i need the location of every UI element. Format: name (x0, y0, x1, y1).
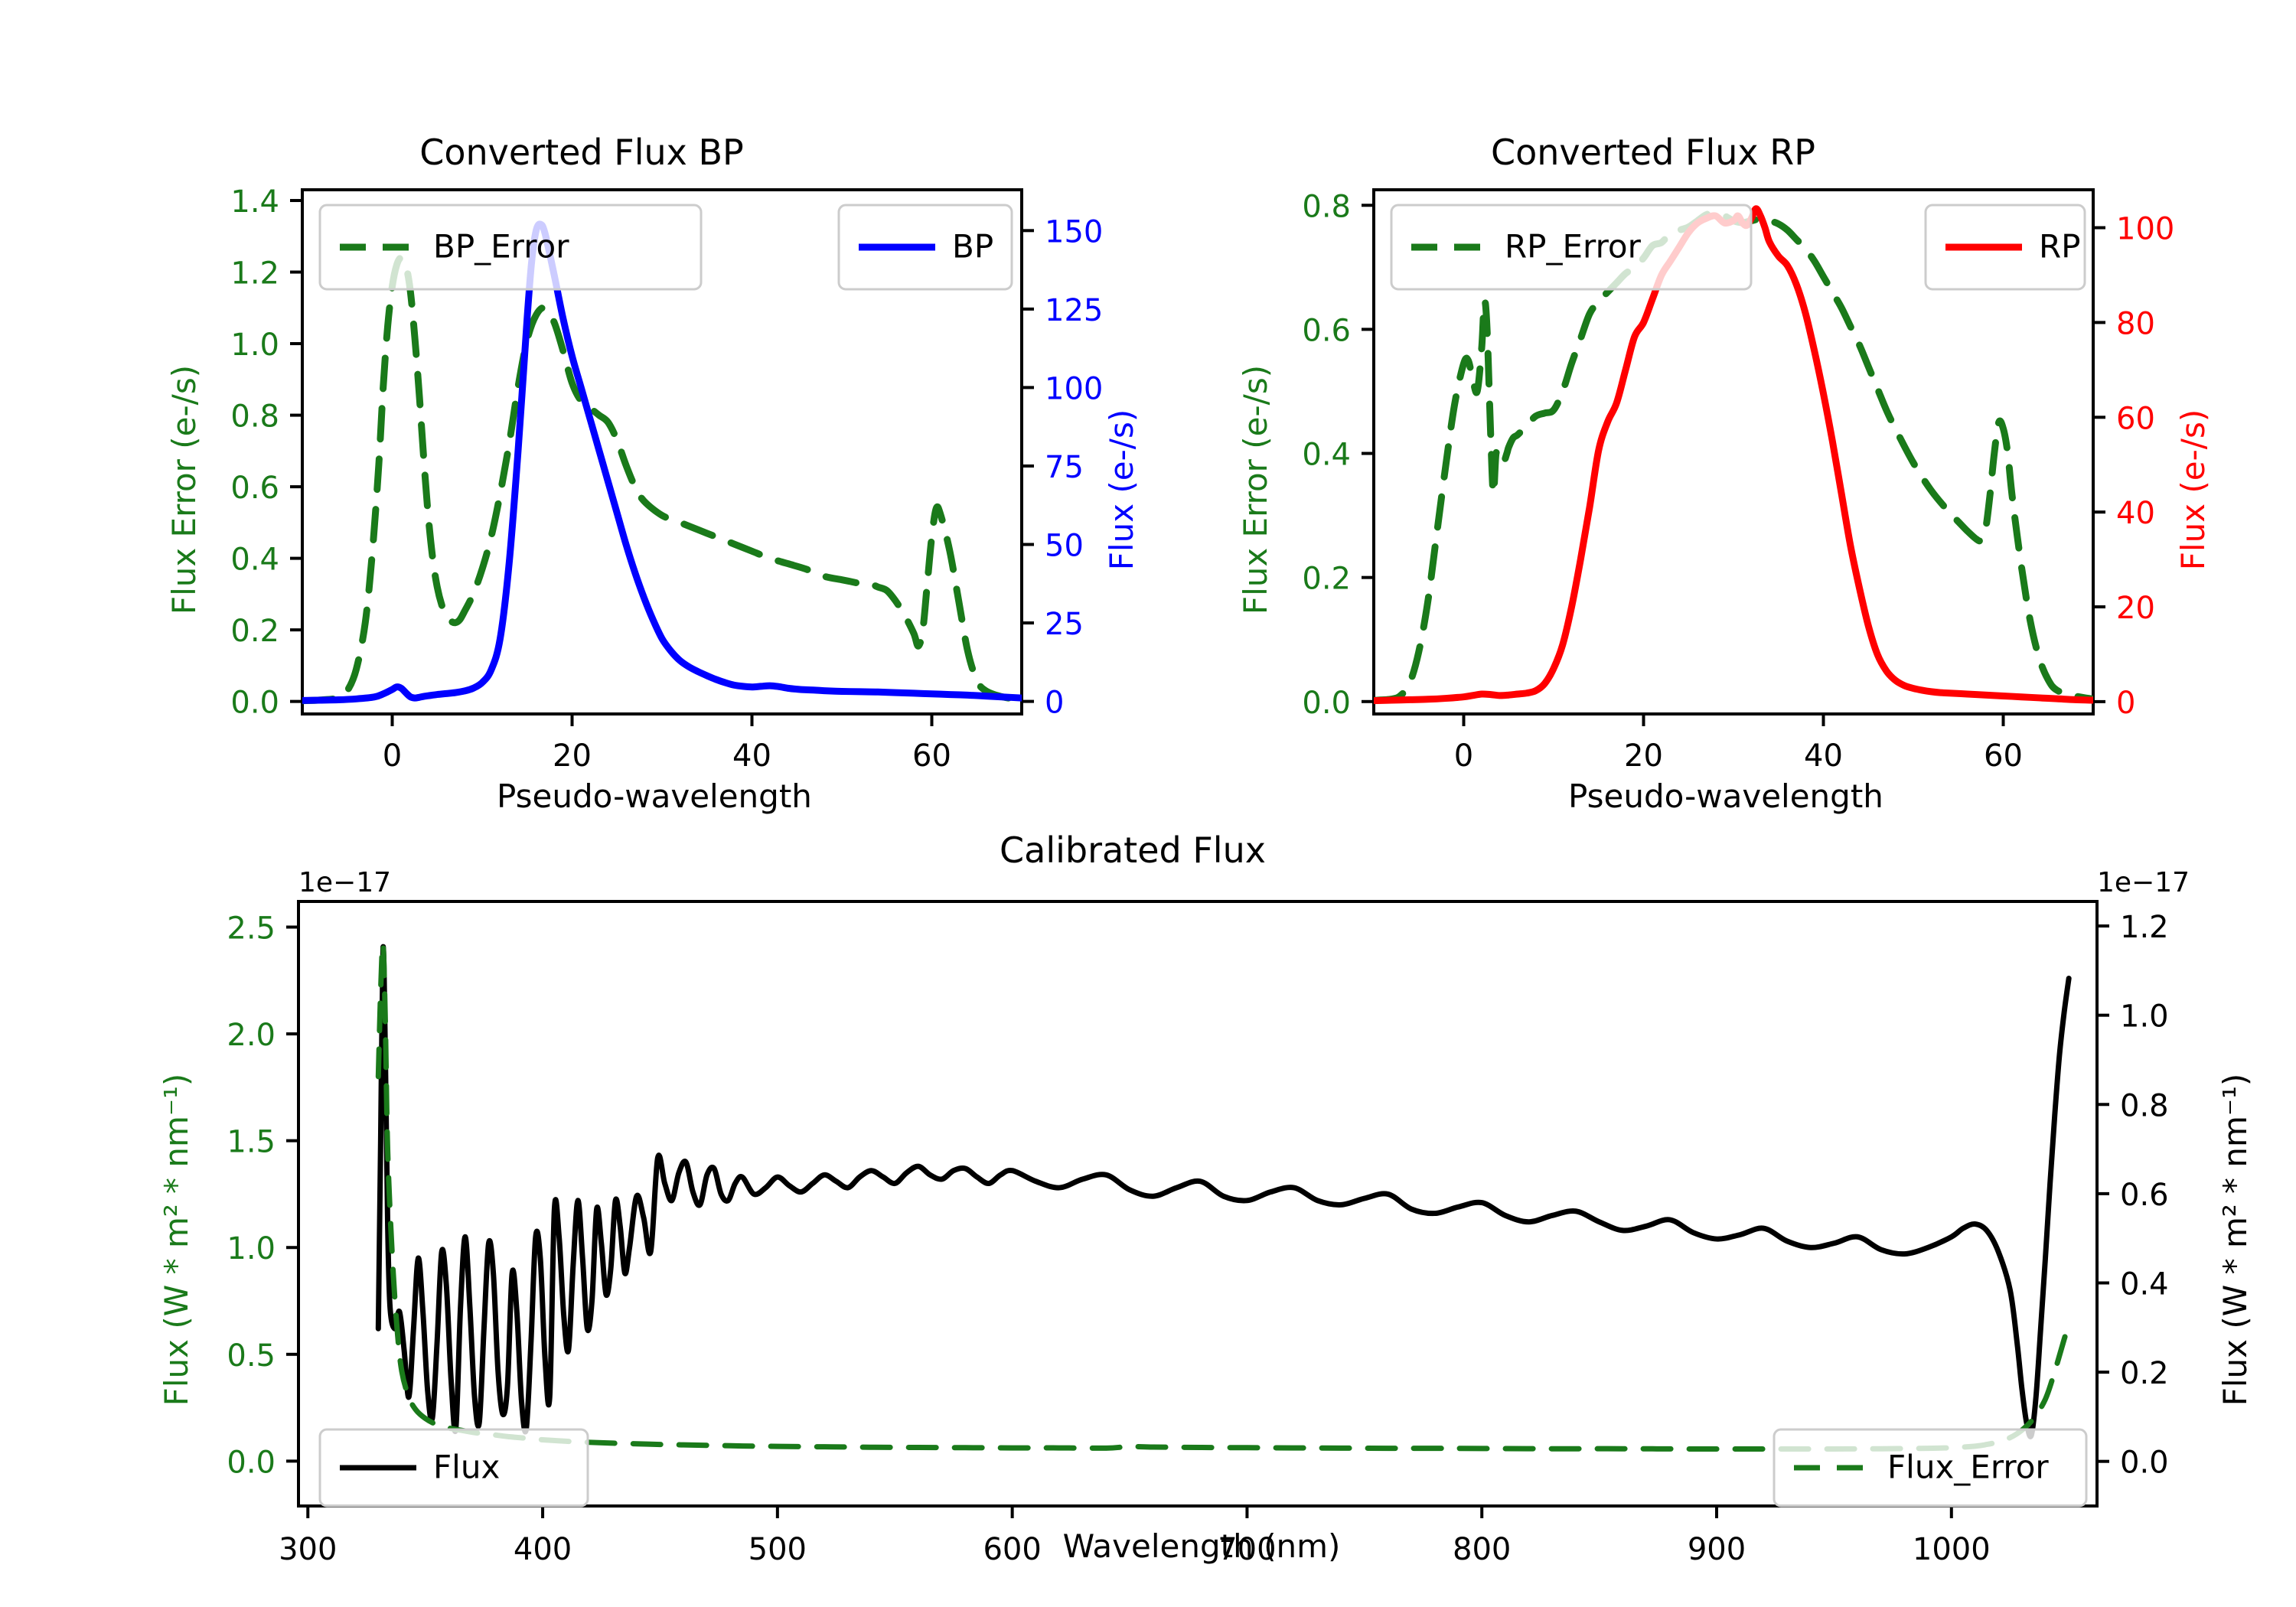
y-tick-label-right: 40 (2116, 496, 2155, 531)
legend-rp[interactable]: RP (1926, 205, 2085, 289)
legend-flux[interactable]: Flux (320, 1429, 588, 1506)
x-tick-label: 500 (748, 1532, 807, 1567)
y-tick-label-right: 0 (1045, 686, 1064, 721)
y-tick-label-left: 2.5 (227, 911, 276, 946)
x-tick-label: 700 (1218, 1532, 1276, 1567)
x-tick-label: 20 (553, 738, 592, 774)
bp-title: Converted Flux BP (419, 132, 744, 173)
figure-canvas: Converted Flux BP Flux Error (e-/s) Flux… (0, 0, 2296, 1607)
y-tick-label-left: 0.8 (230, 399, 279, 435)
bp-xlabel: Pseudo-wavelength (497, 777, 812, 815)
legend-flux-error[interactable]: Flux_Error (1774, 1429, 2086, 1506)
calibrated-chart-svg: Calibrated Flux 1e−17 1e−17 Flux (W * m²… (0, 811, 2296, 1607)
axes-frame (298, 901, 2097, 1506)
x-tick-label: 60 (912, 738, 951, 774)
legend-bp[interactable]: BP (839, 205, 1012, 289)
rp-title: Converted Flux RP (1491, 132, 1815, 173)
calibrated-exponent-left: 1e−17 (298, 867, 391, 898)
x-tick-label: 0 (1454, 738, 1473, 774)
y-tick-label-left: 1.4 (230, 184, 279, 220)
calibrated-ylabel-right: Flux (W * m² * nm⁻¹) (2216, 1074, 2254, 1407)
panel-converted-flux-bp: Converted Flux BP Flux Error (e-/s) Flux… (0, 0, 1148, 826)
x-tick-label: 600 (983, 1532, 1041, 1567)
y-tick-label-left: 0.0 (1302, 686, 1351, 721)
rp-ylabel-left: Flux Error (e-/s) (1237, 365, 1274, 614)
calibrated-exponent-right: 1e−17 (2097, 867, 2190, 898)
y-tick-label-right: 0.4 (2120, 1266, 2169, 1302)
y-tick-label-right: 20 (2116, 591, 2155, 626)
x-tick-label: 20 (1624, 738, 1663, 774)
y-tick-label-left: 2.0 (227, 1018, 276, 1053)
rp-legend: RP_ErrorRP (1391, 205, 2085, 289)
panel-calibrated-flux: Calibrated Flux 1e−17 1e−17 Flux (W * m²… (0, 811, 2296, 1607)
legend-label: BP_Error (433, 228, 569, 266)
x-tick-label: 60 (1984, 738, 2023, 774)
rp-ylabel-right: Flux (e-/s) (2174, 409, 2212, 570)
y-tick-label-left: 0.6 (1302, 313, 1351, 348)
y-tick-label-left: 0.8 (1302, 189, 1351, 224)
y-tick-label-left: 0.0 (227, 1445, 276, 1480)
y-tick-label-left: 1.0 (227, 1231, 276, 1266)
calibrated-legend: FluxFlux_Error (320, 1429, 2086, 1506)
legend-label: Flux (433, 1449, 500, 1486)
legend-label: RP (2039, 228, 2081, 266)
x-tick-label: 300 (279, 1532, 337, 1567)
y-tick-label-right: 0.2 (2120, 1356, 2169, 1391)
legend-rp-error[interactable]: RP_Error (1391, 205, 1751, 289)
panel-converted-flux-rp: Converted Flux RP Flux Error (e-/s) Flux… (1071, 0, 2296, 826)
x-tick-label: 900 (1688, 1532, 1746, 1567)
rp-xlabel: Pseudo-wavelength (1568, 777, 1883, 815)
y-tick-label-left: 1.5 (227, 1125, 276, 1160)
y-tick-label-left: 0.4 (230, 543, 279, 578)
x-tick-label: 40 (1804, 738, 1843, 774)
series-flux (378, 947, 2069, 1436)
x-tick-label: 800 (1453, 1532, 1511, 1567)
calibrated-xlabel: Wavelength (nm) (1063, 1527, 1341, 1565)
y-tick-label-right: 0.8 (2120, 1088, 2169, 1123)
bp-chart-svg: Converted Flux BP Flux Error (e-/s) Flux… (0, 0, 1148, 826)
y-tick-label-left: 1.2 (230, 256, 279, 292)
y-tick-label-left: 0.6 (230, 471, 279, 506)
bp-ylabel-left: Flux Error (e-/s) (165, 365, 203, 614)
y-tick-label-right: 0.6 (2120, 1178, 2169, 1213)
y-tick-label-left: 1.0 (230, 328, 279, 363)
y-tick-label-right: 100 (2116, 212, 2174, 247)
y-tick-label-left: 0.2 (1302, 562, 1351, 597)
calibrated-ylabel-left: Flux (W * m² * nm⁻¹) (158, 1074, 195, 1407)
y-tick-label-right: 0.0 (2120, 1446, 2169, 1481)
y-tick-label-left: 0.0 (230, 686, 279, 721)
y-tick-label-right: 1.2 (2120, 910, 2169, 945)
y-tick-label-right: 80 (2116, 306, 2155, 341)
x-tick-label: 400 (514, 1532, 572, 1567)
rp-chart-svg: Converted Flux RP Flux Error (e-/s) Flux… (1071, 0, 2296, 826)
x-tick-label: 1000 (1913, 1532, 1991, 1567)
y-tick-label-left: 0.5 (227, 1338, 276, 1374)
legend-label: RP_Error (1505, 228, 1642, 266)
bp-legend: BP_ErrorBP (320, 205, 1012, 289)
y-tick-label-right: 0 (2116, 686, 2135, 721)
y-tick-label-right: 1.0 (2120, 999, 2169, 1035)
legend-label: BP (952, 228, 993, 266)
y-tick-label-left: 0.2 (230, 614, 279, 649)
y-tick-label-right: 60 (2116, 401, 2155, 436)
legend-label: Flux_Error (1887, 1449, 2049, 1486)
y-tick-label-left: 0.4 (1302, 438, 1351, 473)
x-tick-label: 0 (383, 738, 402, 774)
legend-bp-error[interactable]: BP_Error (320, 205, 701, 289)
x-tick-label: 40 (732, 738, 771, 774)
calibrated-title: Calibrated Flux (1000, 830, 1266, 871)
